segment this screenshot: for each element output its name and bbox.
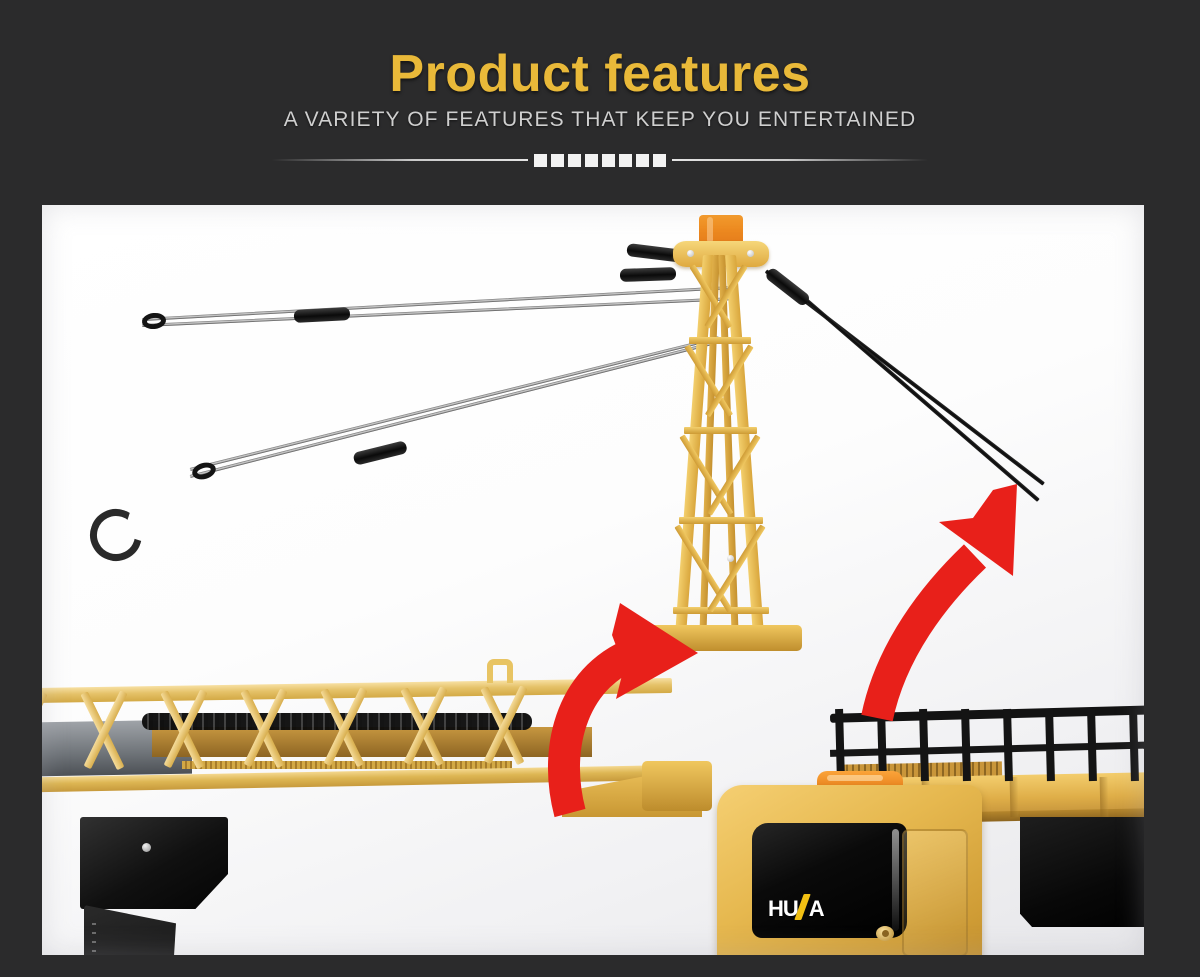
cap-bolt bbox=[747, 250, 754, 257]
mast-horizontal bbox=[684, 427, 757, 434]
divider-square bbox=[551, 154, 564, 167]
divider-squares bbox=[534, 154, 666, 167]
divider-line-left bbox=[272, 159, 528, 161]
cab-body: HUIA bbox=[717, 785, 982, 955]
left-machinery-housing bbox=[80, 817, 228, 909]
rotation-arrow-right bbox=[847, 460, 1047, 730]
tension-cable-lower bbox=[190, 340, 719, 478]
tension-cable-lower bbox=[190, 336, 720, 471]
divider-square bbox=[568, 154, 581, 167]
divider-square bbox=[619, 154, 632, 167]
cab-latch-knob bbox=[876, 926, 894, 941]
lifting-hook-icon bbox=[90, 505, 136, 551]
turnbuckle bbox=[352, 440, 408, 466]
page-subtitle: A VARIETY OF FEATURES THAT KEEP YOU ENTE… bbox=[0, 108, 1200, 132]
railing-post bbox=[1087, 709, 1097, 781]
shackle bbox=[141, 312, 167, 330]
divider-line-right bbox=[672, 159, 928, 161]
product-photo: HUIA bbox=[42, 205, 1144, 955]
counterweight-block bbox=[1020, 817, 1144, 927]
cab-door-panel bbox=[902, 829, 968, 955]
divider-square bbox=[653, 154, 666, 167]
brand-prefix: HU bbox=[768, 896, 798, 921]
housing-bolt bbox=[142, 843, 151, 852]
mast-bolt bbox=[727, 555, 734, 562]
page-header: Product features A VARIETY OF FEATURES T… bbox=[0, 0, 1200, 205]
brand-logo: HUIA bbox=[768, 896, 824, 922]
jib-lifting-lug bbox=[487, 659, 513, 683]
cap-bolt bbox=[687, 250, 694, 257]
cjib-rib bbox=[1010, 777, 1019, 817]
header-divider bbox=[0, 148, 1200, 172]
divider-square bbox=[636, 154, 649, 167]
brand-accent-slash: I bbox=[798, 896, 809, 922]
page-title: Product features bbox=[0, 44, 1200, 104]
rotation-arrow-left bbox=[512, 595, 722, 825]
divider-square bbox=[602, 154, 615, 167]
cab-window-panel: HUIA bbox=[752, 823, 907, 938]
turnbuckle bbox=[294, 307, 351, 323]
lattice-tower-mast bbox=[659, 215, 779, 635]
cjib-rib bbox=[1100, 777, 1109, 817]
mast-horizontal bbox=[689, 337, 751, 344]
brand-suffix: A bbox=[809, 896, 824, 921]
left-track-frame bbox=[84, 905, 176, 955]
railing-post bbox=[1129, 709, 1139, 781]
mast-horizontal bbox=[679, 517, 763, 524]
divider-square bbox=[585, 154, 598, 167]
divider-square bbox=[534, 154, 547, 167]
operator-cab: HUIA bbox=[697, 775, 987, 955]
jib-rack-strip bbox=[182, 761, 512, 769]
